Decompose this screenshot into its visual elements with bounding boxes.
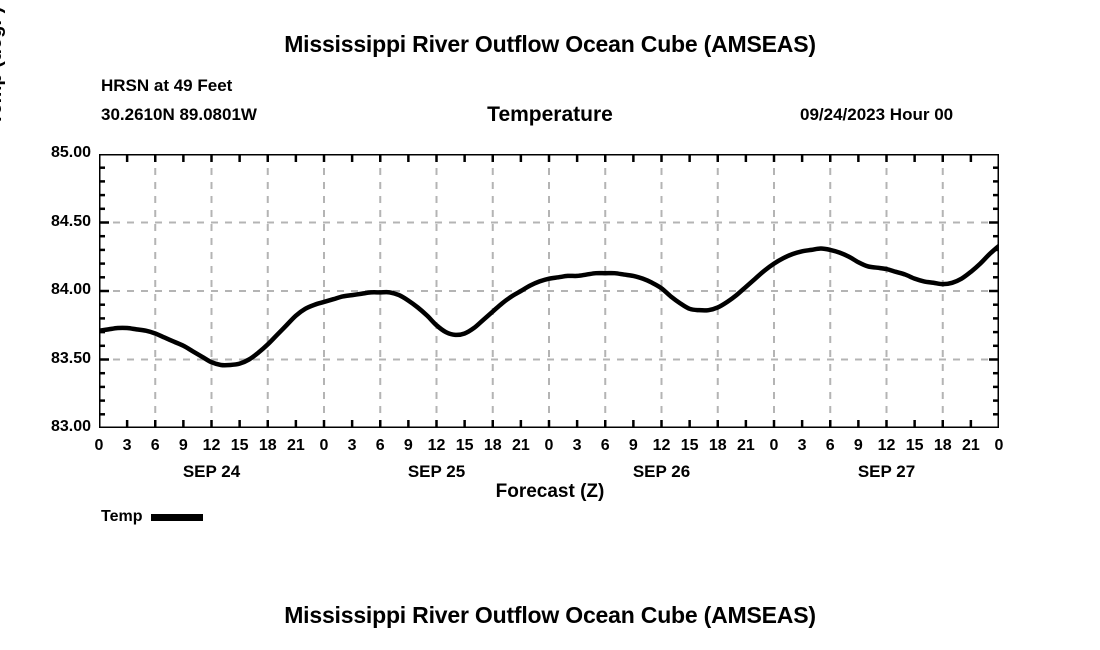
- chart-page: Mississippi River Outflow Ocean Cube (AM…: [0, 0, 1100, 650]
- x-tick-label: 9: [854, 437, 863, 455]
- legend-label: Temp: [101, 508, 142, 526]
- x-tick-label: 15: [906, 437, 924, 455]
- plot-area: [99, 154, 999, 428]
- page-title-top: Mississippi River Outflow Ocean Cube (AM…: [0, 31, 1100, 58]
- x-tick-label: 6: [376, 437, 385, 455]
- x-tick-label: 21: [287, 437, 305, 455]
- x-tick-label: 6: [601, 437, 610, 455]
- x-tick-label: 12: [203, 437, 221, 455]
- x-tick-label: 12: [428, 437, 446, 455]
- x-tick-label: 15: [681, 437, 699, 455]
- x-tick-label: 6: [826, 437, 835, 455]
- x-tick-label: 12: [878, 437, 896, 455]
- x-tick-label: 9: [179, 437, 188, 455]
- x-tick-label: 0: [770, 437, 779, 455]
- x-tick-label: 3: [348, 437, 357, 455]
- x-tick-label: 0: [545, 437, 554, 455]
- x-tick-label: 0: [95, 437, 104, 455]
- chart-legend: Temp: [101, 508, 203, 526]
- y-tick-label: 83.50: [31, 350, 91, 368]
- x-tick-label: 0: [320, 437, 329, 455]
- x-tick-label: 3: [123, 437, 132, 455]
- legend-line-swatch: [151, 514, 203, 521]
- x-tick-label: 9: [629, 437, 638, 455]
- x-tick-label: 9: [404, 437, 413, 455]
- x-axis-day-label: SEP 26: [633, 462, 690, 482]
- x-tick-label: 18: [934, 437, 952, 455]
- x-axis-day-label: SEP 27: [858, 462, 915, 482]
- x-axis-day-label: SEP 24: [183, 462, 240, 482]
- y-tick-label: 84.50: [31, 213, 91, 231]
- x-tick-label: 3: [573, 437, 582, 455]
- x-tick-label: 18: [259, 437, 277, 455]
- x-tick-label: 3: [798, 437, 807, 455]
- station-depth-label: HRSN at 49 Feet: [101, 76, 232, 96]
- gridlines: [99, 154, 999, 428]
- x-axis-title: Forecast (Z): [0, 481, 1100, 503]
- y-tick-label: 83.00: [31, 418, 91, 436]
- chart-svg: [99, 154, 999, 428]
- x-tick-label: 21: [512, 437, 530, 455]
- model-run-label: 09/24/2023 Hour 00: [800, 105, 953, 125]
- y-tick-label: 84.00: [31, 281, 91, 299]
- page-title-bottom: Mississippi River Outflow Ocean Cube (AM…: [0, 602, 1100, 629]
- x-tick-label: 21: [962, 437, 980, 455]
- temp-series-line: [99, 246, 999, 365]
- y-axis-title: Temp (degF): [0, 0, 7, 186]
- x-tick-label: 6: [151, 437, 160, 455]
- x-tick-label: 18: [709, 437, 727, 455]
- x-tick-label: 12: [653, 437, 671, 455]
- x-tick-label: 15: [231, 437, 249, 455]
- x-axis-day-label: SEP 25: [408, 462, 465, 482]
- x-tick-label: 15: [456, 437, 474, 455]
- x-tick-label: 18: [484, 437, 502, 455]
- x-tick-label: 0: [995, 437, 1004, 455]
- y-tick-label: 85.00: [31, 144, 91, 162]
- x-tick-label: 21: [737, 437, 755, 455]
